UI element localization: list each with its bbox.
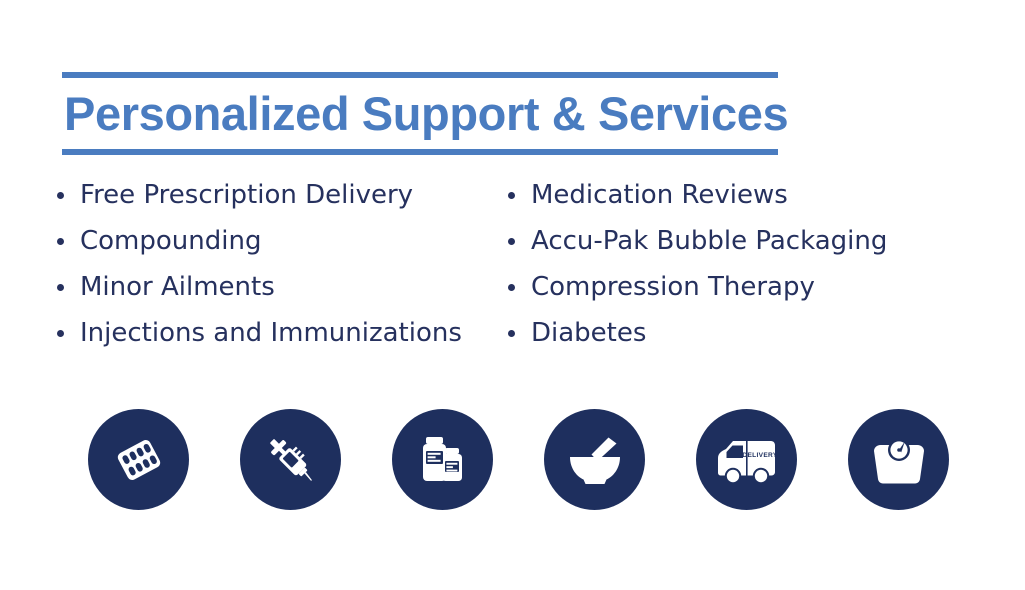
bullet-dot-icon: [508, 330, 515, 337]
list-item: Accu-Pak Bubble Packaging: [503, 224, 1025, 258]
list-item: Injections and Immunizations: [52, 316, 490, 350]
title-block: Personalized Support & Services: [62, 72, 778, 155]
service-icon-row: DELIVERY: [88, 409, 949, 510]
bullet-dot-icon: [508, 192, 515, 199]
services-right-column: Medication Reviews Accu-Pak Bubble Packa…: [490, 178, 1025, 362]
list-item-label: Compression Therapy: [531, 272, 815, 302]
icon-badge-mortar-and-pestle: [544, 409, 645, 510]
list-item-label: Free Prescription Delivery: [80, 180, 413, 210]
list-item-label: Medication Reviews: [531, 180, 788, 210]
services-left-column: Free Prescription Delivery Compounding M…: [0, 178, 490, 362]
bullet-dot-icon: [57, 284, 64, 291]
list-item-label: Accu-Pak Bubble Packaging: [531, 226, 887, 256]
bullet-dot-icon: [57, 192, 64, 199]
list-item-label: Minor Ailments: [80, 272, 275, 302]
truck-delivery-label: DELIVERY: [742, 452, 777, 459]
list-item: Minor Ailments: [52, 270, 490, 304]
icon-badge-medicine-bottles: [392, 409, 493, 510]
list-item: Compression Therapy: [503, 270, 1025, 304]
list-item-label: Compounding: [80, 226, 261, 256]
weight-scale-icon: [870, 431, 928, 489]
list-item: Diabetes: [503, 316, 1025, 350]
delivery-truck-icon: DELIVERY: [715, 431, 779, 489]
list-item-label: Diabetes: [531, 318, 646, 348]
icon-badge-delivery-truck: DELIVERY: [696, 409, 797, 510]
list-item: Compounding: [52, 224, 490, 258]
title-rule-bottom: [62, 149, 778, 155]
bullet-dot-icon: [57, 238, 64, 245]
syringe-icon: [260, 429, 322, 491]
icon-badge-blister-pack: [88, 409, 189, 510]
list-item-label: Injections and Immunizations: [80, 318, 462, 348]
page-title: Personalized Support & Services: [62, 78, 778, 149]
bullet-dot-icon: [57, 330, 64, 337]
mortar-and-pestle-icon: [564, 429, 626, 491]
icon-badge-syringe: [240, 409, 341, 510]
icon-badge-weight-scale: [848, 409, 949, 510]
bullet-dot-icon: [508, 284, 515, 291]
medicine-bottles-icon: [414, 431, 472, 489]
services-columns: Free Prescription Delivery Compounding M…: [0, 178, 1025, 362]
blister-pack-icon: [109, 430, 169, 490]
services-left-list: Free Prescription Delivery Compounding M…: [52, 178, 490, 350]
bullet-dot-icon: [508, 238, 515, 245]
slide-canvas: Personalized Support & Services Free Pre…: [0, 0, 1025, 590]
services-right-list: Medication Reviews Accu-Pak Bubble Packa…: [503, 178, 1025, 350]
list-item: Free Prescription Delivery: [52, 178, 490, 212]
list-item: Medication Reviews: [503, 178, 1025, 212]
